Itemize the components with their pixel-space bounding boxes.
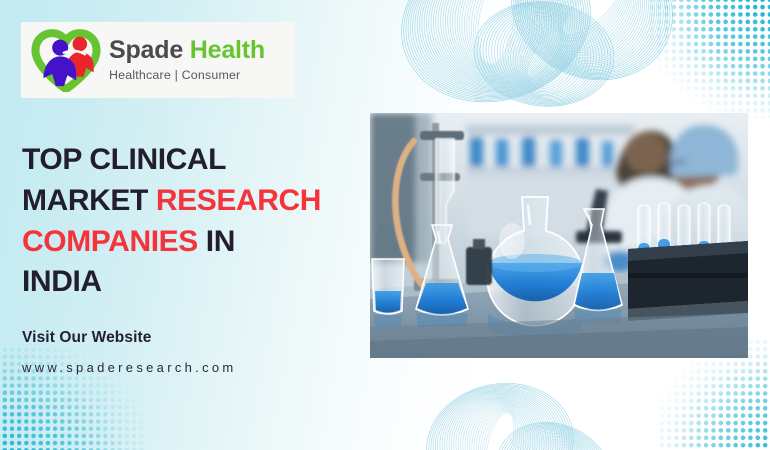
headline-line-1: TOP CLINICAL xyxy=(22,143,226,176)
brand-logo-lockup[interactable]: Spade Health Healthcare | Consumer xyxy=(21,22,295,98)
halftone-dots-top-right xyxy=(648,0,770,118)
line-art-swirl-bottom-right xyxy=(404,352,654,450)
brand-name-part-health: Health xyxy=(190,36,265,64)
headline-line-2-accent: RESEARCH xyxy=(156,184,321,217)
headline-copy-block: TOP CLINICAL MARKET RESEARCH COMPANIES I… xyxy=(22,140,362,375)
headline-line-3-accent: COMPANIES xyxy=(22,225,198,258)
laboratory-photo xyxy=(370,113,748,358)
laboratory-scene-illustration xyxy=(370,113,748,358)
promotional-banner: Spade Health Healthcare | Consumer TOP C… xyxy=(0,0,770,450)
website-url[interactable]: www.spaderesearch.com xyxy=(22,360,362,375)
brand-name-part-spade: Spade xyxy=(109,36,183,64)
cta-label: Visit Our Website xyxy=(22,329,362,347)
brand-name: Spade Health xyxy=(109,38,265,63)
headline-line-3-plain: IN xyxy=(198,225,235,258)
brand-wordmark: Spade Health Healthcare | Consumer xyxy=(109,38,265,81)
spade-health-heart-people-icon xyxy=(29,28,103,92)
page-title: TOP CLINICAL MARKET RESEARCH COMPANIES I… xyxy=(22,140,362,303)
brand-tagline: Healthcare | Consumer xyxy=(109,69,265,81)
headline-line-2-plain: MARKET xyxy=(22,184,156,217)
headline-line-4: INDIA xyxy=(22,265,102,298)
